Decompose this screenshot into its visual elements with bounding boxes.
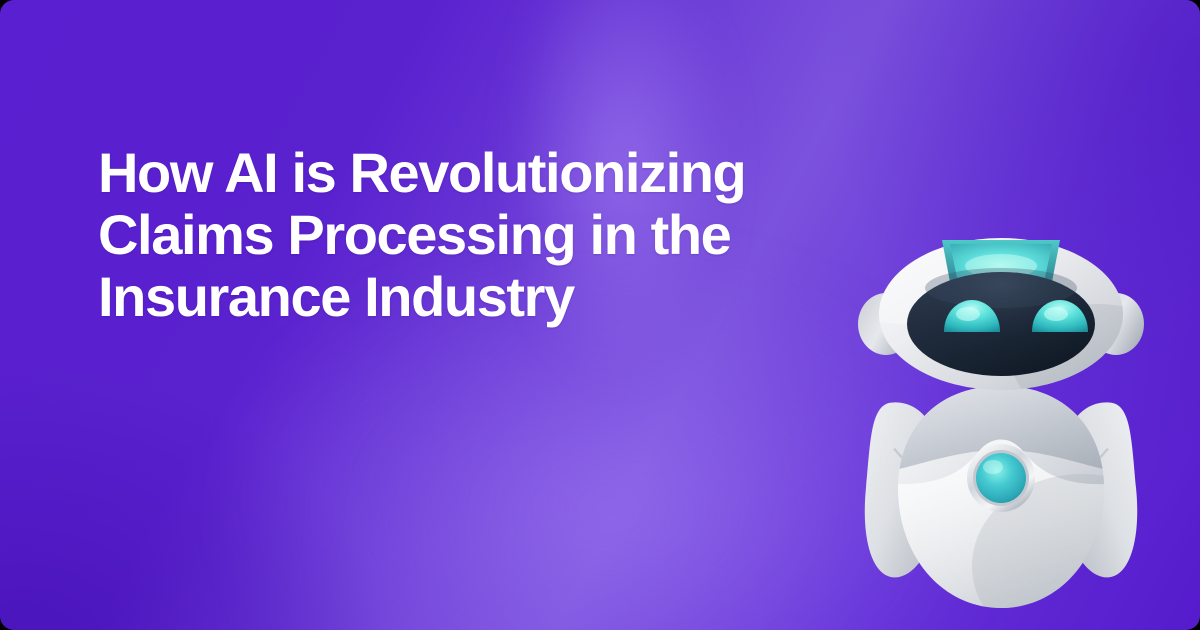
ai-robot-illustration bbox=[846, 236, 1156, 630]
hero-banner: How AI is Revolutionizing Claims Process… bbox=[0, 0, 1200, 630]
robot-core-light bbox=[967, 444, 1035, 512]
page-title: How AI is Revolutionizing Claims Process… bbox=[98, 142, 858, 328]
